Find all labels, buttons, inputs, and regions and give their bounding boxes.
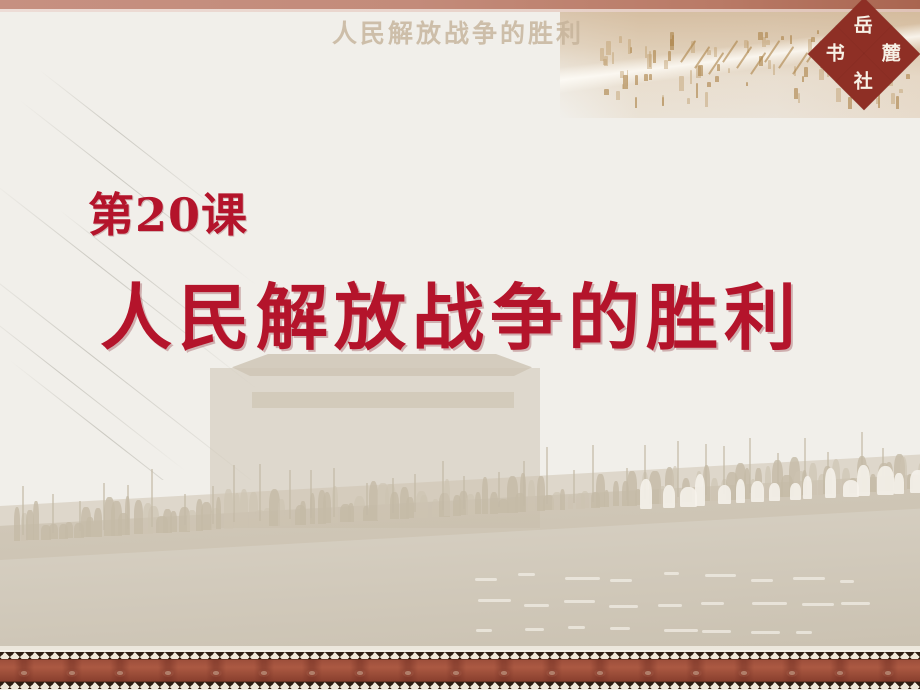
troop-mark [606,41,610,54]
troop-mark [668,51,671,61]
troop-mark [804,67,808,77]
crowd-figure [528,480,535,512]
crowd-flag-pole [442,461,444,510]
crowd-figure [216,497,221,529]
ground-dash [702,630,731,633]
crowd-figure [444,479,450,516]
troop-mark [612,52,614,64]
ground-dash [751,579,773,582]
title-slide: 人民解放战争的胜利 岳 书 麓 社 第20课 人民解放战争的胜利 [0,0,920,690]
troop-mark [687,98,691,104]
troop-mark [653,50,656,62]
troop-mark [622,84,624,88]
crowd-flag-pole [366,483,368,515]
logo-char-she: 社 [854,72,873,91]
crowd-flag-pole [79,501,81,532]
troop-mark [768,60,771,69]
crowd-flag-pole [523,461,525,506]
crowd-highlight-figure [663,485,675,508]
troop-mark [715,76,719,82]
crowd-flag-pole [151,469,153,527]
ground-dash [609,605,637,608]
crowd-figure [224,489,232,529]
ground-dash [610,627,630,630]
crowd-flag-pole [626,468,628,500]
troop-mark [705,92,708,107]
crowd-figure [14,507,20,542]
crowd-highlight-figure [803,476,812,499]
troop-mark [647,54,652,69]
ground-dash [752,602,787,605]
background-watermark [0,330,920,660]
crowd-highlight-figure [857,465,870,497]
troop-mark [603,59,607,65]
ground-dash [793,577,825,580]
crowd-flag-pole [127,485,129,529]
crowd-highlight-figure [640,479,652,509]
crowd-flag-pole [592,445,594,502]
crowd-flag-pole [677,441,679,497]
troop-mark [679,76,684,92]
crowd-highlight-figure [825,468,836,499]
troop-mark [649,74,652,80]
troop-mark [798,93,800,103]
page-title: 人民解放战争的胜利 [100,280,802,356]
header-faded-title: 人民解放战争的胜利 [332,14,584,50]
crowd-flag-pole [463,476,465,509]
ground-dash [475,578,497,581]
crowd-figure [240,489,248,528]
troop-mark [790,35,792,44]
crowd-highlight-figure [751,481,764,502]
troop-mark [698,65,703,75]
crowd-highlight-figure [695,474,705,505]
crowd-flag-pole [103,483,105,530]
ground-dash [565,577,600,580]
troop-mark [635,75,638,85]
troop-mark [765,32,768,39]
crowd-flag-pole [184,494,186,525]
ground-dash [841,602,871,605]
crowd-figure [134,500,143,534]
troop-mark [664,60,668,69]
troop-mark [627,70,629,85]
top-accent-underline [0,9,920,12]
ground-dash [524,604,548,607]
crowd-flag-pole [414,474,416,512]
crowd-highlight-figure [910,470,920,494]
troop-mark [781,36,784,40]
crowd-figure [65,522,73,538]
ground-dash [751,631,780,634]
crowd-flag-pole [392,478,394,513]
top-accent-bar [0,0,920,9]
ground-dash [478,599,511,602]
footer-ornamental-border [0,650,920,690]
crowd-flag-pole [573,470,575,503]
troop-mark [672,35,674,39]
crowd-figure [323,492,332,523]
troop-mark [635,97,637,108]
ground-dash [796,631,812,634]
crowd-figure [604,490,609,507]
troop-mark [707,82,712,87]
troop-mark [766,40,770,44]
crowd-highlight-figure [769,483,780,501]
ground-dash [568,626,585,629]
crowd-flag-pole [705,444,707,495]
ground-dash [658,604,681,607]
crowd-flag-pole [289,470,291,519]
logo-char-yue: 岳 [854,16,873,35]
crowd-highlight-figure [894,473,903,494]
crowd-figure [711,478,718,500]
ground-dash [705,574,736,577]
troop-mark [604,89,609,94]
troop-mark [728,68,730,73]
crowd-flag-pole [333,468,335,517]
logo-char-lu: 麓 [882,44,901,63]
crowd-highlight-figure [718,485,732,504]
troop-mark [746,82,749,86]
footer-hairline-top [0,659,920,660]
crowd-figure [300,501,306,524]
troop-mark [620,71,623,77]
ground-dash [518,573,535,576]
crowd-figure [33,501,38,540]
troop-mark [794,88,798,99]
crowd-highlight-figure [736,479,745,504]
crowd-figure [86,517,93,537]
ground-dash [802,603,834,606]
crowd-highlight-figure [877,466,893,495]
crowd-figure [581,491,589,509]
ground-dash [664,629,699,632]
crowd-flag-pole [498,472,500,508]
crowd-flag-pole [546,447,548,504]
crowd-flag-pole [749,438,751,492]
crowd-figure [475,492,481,514]
troop-mark [662,95,664,105]
crowd-flag-pole [212,486,214,524]
crowd-flag-pole [22,486,24,535]
crowd-flag-pole [233,465,235,522]
crowd-figure [482,477,488,514]
ground-dash [564,600,596,603]
watermark-gate-tier [252,392,514,408]
crowd-figure [170,511,177,532]
crowd-figure [432,499,439,517]
ground-dash [476,629,492,632]
crowd-figure [420,495,428,517]
troop-mark [690,70,692,85]
publisher-logo: 岳 书 麓 社 [812,4,916,108]
troop-mark [628,39,631,54]
ground-dash [840,580,855,583]
crowd-flag-pole [310,470,312,518]
crowd-flag-pole [52,494,54,533]
crowd-highlight-figure [790,483,801,500]
troop-mark [616,91,619,100]
troop-mark [707,50,711,55]
troop-mark [670,39,674,50]
troop-mark [644,74,648,81]
troop-mark [714,47,718,57]
troop-mark [619,36,622,43]
lesson-number: 第20课 [88,192,248,238]
crowd-flag-pole [259,464,261,521]
ground-dash [664,572,679,575]
footer-zigzag-top [0,652,920,659]
troop-mark [696,83,699,97]
troop-mark [717,64,719,72]
crowd-figure [870,474,876,491]
logo-char-shu: 书 [826,44,845,63]
ground-dash [610,579,632,582]
footer-zigzag-bottom [0,682,920,689]
crowd-figure [560,489,565,509]
crowd-figure [613,481,619,506]
crowd-figure [94,508,102,537]
ground-dash [525,628,544,631]
